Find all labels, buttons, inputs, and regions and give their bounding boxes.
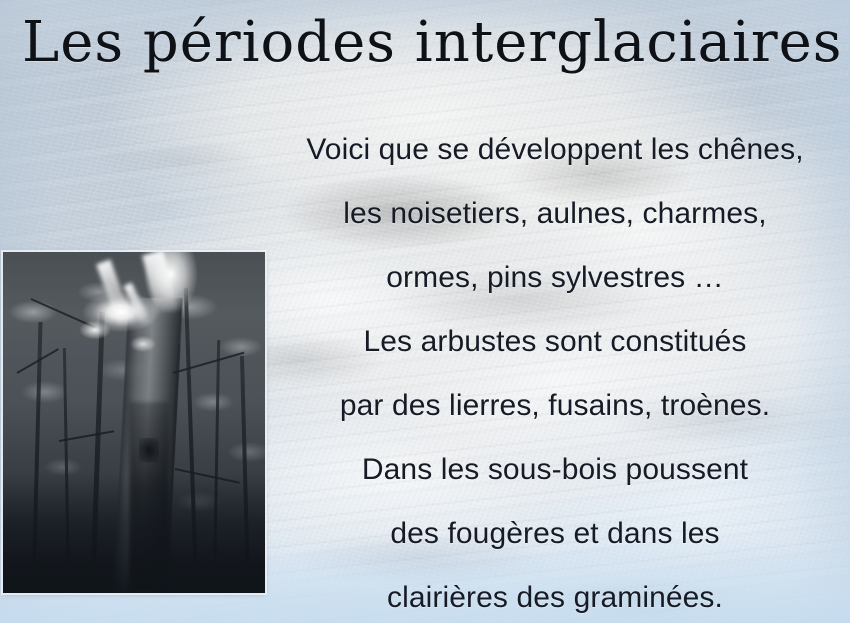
- tree-branch: [31, 298, 96, 328]
- forest-photo: [3, 252, 265, 593]
- tree-stem: [63, 348, 70, 592]
- trunk-knot: [139, 438, 159, 462]
- tree-stem: [240, 356, 250, 588]
- tree-stem: [165, 344, 181, 590]
- sun-flare: [3, 252, 265, 593]
- body-line: Dans les sous-bois poussent: [266, 438, 844, 502]
- slide-title: Les périodes interglaciaires: [22, 14, 832, 73]
- tree-stem: [213, 340, 220, 590]
- forest-photo-canvas: [3, 252, 265, 593]
- tree-branch: [175, 468, 240, 484]
- sun-ray: [142, 252, 178, 314]
- trunk-shadow: [129, 402, 169, 592]
- photo-undergrowth: [3, 473, 265, 593]
- body-line: les noisetiers, aulnes, charmes,: [266, 182, 844, 246]
- tree-stem: [90, 312, 105, 590]
- photo-base-layer: [3, 252, 265, 593]
- slide-canvas: Les périodes interglaciaires: [0, 0, 850, 623]
- tree-branch: [17, 348, 60, 374]
- tree-branch: [59, 430, 114, 442]
- body-line: Voici que se développent les chênes,: [266, 118, 844, 182]
- body-line: Les arbustes sont constitués: [266, 310, 844, 374]
- photo-blue-tint: [3, 252, 265, 593]
- body-line: des fougères et dans les: [266, 502, 844, 566]
- sun-ray: [96, 259, 133, 326]
- body-line: ormes, pins sylvestres …: [266, 246, 844, 310]
- photo-foliage-layer: [3, 252, 265, 593]
- body-line: clairières des graminées.: [266, 566, 844, 623]
- tree-stem: [31, 322, 42, 590]
- body-text-block: Voici que se développent les chênes, les…: [266, 118, 844, 623]
- tree-stem: [184, 288, 198, 588]
- tree-branch: [173, 352, 245, 374]
- body-line: par des lierres, fusains, troènes.: [266, 374, 844, 438]
- main-tree-trunk: [113, 298, 182, 593]
- sun-ray: [123, 282, 151, 327]
